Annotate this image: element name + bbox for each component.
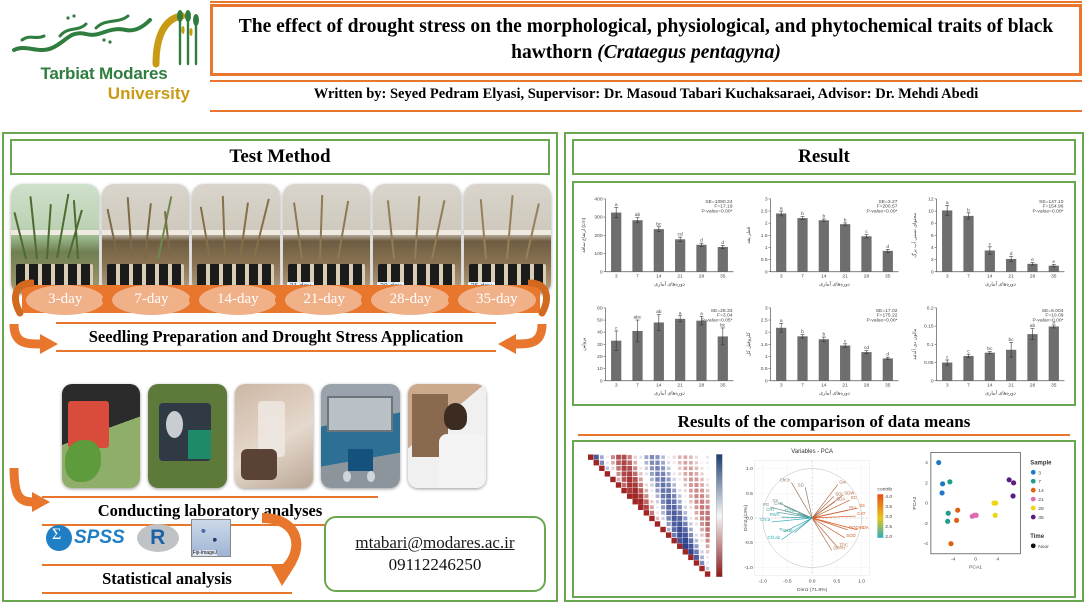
- svg-text:Gm: Gm: [839, 479, 846, 484]
- svg-text:2: 2: [925, 480, 928, 486]
- svg-text:3: 3: [945, 382, 948, 388]
- svg-text:0: 0: [765, 378, 768, 384]
- chart-5-total-chlorophyll: 00.511.522.53a3b7b14c21cd28d35دوره‌های آ…: [741, 294, 906, 403]
- svg-text:7: 7: [801, 274, 804, 280]
- timeline-item-35day[interactable]: 35-day: [454, 279, 540, 319]
- svg-text:28: 28: [864, 274, 870, 280]
- svg-text:35: 35: [1038, 515, 1044, 521]
- svg-text:P-value=0.00*: P-value=0.00*: [702, 209, 733, 215]
- svg-text:8: 8: [930, 221, 933, 227]
- spss-logo-icon: SPSS: [46, 525, 125, 551]
- correlation-heatmap: [574, 442, 739, 596]
- svg-text:0: 0: [765, 269, 768, 275]
- svg-text:d: d: [721, 240, 724, 246]
- svg-text:28: 28: [1029, 274, 1035, 280]
- svg-text:0.5: 0.5: [761, 366, 768, 372]
- svg-text:7: 7: [636, 274, 639, 280]
- svg-text:1.0: 1.0: [746, 466, 753, 472]
- spss-label: SPSS: [74, 527, 125, 549]
- svg-text:ab: ab: [635, 212, 641, 218]
- svg-text:-2: -2: [923, 521, 928, 527]
- svg-text:abc: abc: [634, 314, 642, 320]
- svg-text:دوره‌های آبیاری: دوره‌های آبیاری: [819, 389, 850, 396]
- svg-text:4.0: 4.0: [885, 494, 892, 500]
- svg-text:DPPH: DPPH: [833, 546, 845, 551]
- svg-text:ab: ab: [1029, 323, 1035, 329]
- chart-6-mda: 00.050.10.150.2c3c7bc14bc21ab28a35دوره‌ه…: [907, 294, 1072, 403]
- svg-text:a: a: [679, 311, 682, 316]
- svg-text:دوره‌های آبیاری: دوره‌های آبیاری: [654, 281, 685, 288]
- chart-3-relative-water-content: 024681012a3b7c14d21e28e35دوره‌های آبیاری…: [907, 185, 1072, 294]
- svg-text:Chl.ab: Chl.ab: [768, 535, 781, 540]
- svg-text:0.5: 0.5: [761, 257, 768, 263]
- svg-text:0: 0: [930, 269, 933, 275]
- svg-text:0.5: 0.5: [833, 578, 840, 584]
- svg-text:ab: ab: [656, 309, 662, 315]
- svg-text:14: 14: [987, 274, 993, 280]
- svg-text:-0.5: -0.5: [783, 578, 792, 584]
- pca-individuals-cell: -404-4-2024PCA1PCA2Sample3714212835TimeN…: [909, 442, 1074, 596]
- svg-text:1.5: 1.5: [761, 341, 768, 347]
- svg-text:2: 2: [930, 257, 933, 263]
- svg-text:دوره‌های آبیاری: دوره‌های آبیاری: [985, 281, 1016, 288]
- wheat-emblem-icon: [152, 6, 204, 68]
- svg-text:TCHL: TCHL: [785, 508, 797, 513]
- svg-text:دوره‌های آبیاری: دوره‌های آبیاری: [819, 281, 850, 288]
- svg-text:CAT: CAT: [857, 511, 866, 516]
- svg-text:14: 14: [987, 382, 993, 388]
- flow-step-3-label: Statistical analysis: [42, 564, 292, 594]
- svg-text:P-value=0.00*: P-value=0.00*: [867, 317, 898, 323]
- svg-text:3: 3: [780, 382, 783, 388]
- svg-text:پرولین: پرولین: [581, 337, 587, 351]
- svg-text:35: 35: [885, 382, 891, 388]
- header-divider-top: [210, 80, 1082, 82]
- svg-text:RWC: RWC: [770, 512, 780, 517]
- svg-text:3: 3: [615, 382, 618, 388]
- svg-text:21: 21: [677, 382, 683, 388]
- svg-text:0.2: 0.2: [926, 305, 933, 311]
- r-label: R: [150, 526, 165, 550]
- svg-text:SOD: SOD: [846, 533, 855, 538]
- svg-text:0.15: 0.15: [924, 323, 934, 329]
- svg-text:b: b: [844, 217, 847, 223]
- svg-text:4: 4: [925, 460, 928, 466]
- r-logo-icon: R: [137, 524, 179, 552]
- svg-text:b: b: [801, 329, 804, 335]
- svg-text:e: e: [1052, 260, 1055, 265]
- svg-text:دوره‌های آبیاری: دوره‌های آبیاری: [985, 389, 1016, 396]
- svg-text:b: b: [823, 331, 826, 337]
- svg-text:20: 20: [597, 354, 603, 360]
- svg-text:0.05: 0.05: [924, 360, 934, 366]
- svg-text:2: 2: [765, 221, 768, 227]
- svg-text:21: 21: [1008, 382, 1014, 388]
- svg-text:a: a: [945, 201, 948, 206]
- svg-text:14: 14: [821, 382, 827, 388]
- lab-photo-row: [62, 384, 486, 488]
- svg-text:P-value=0.00*: P-value=0.00*: [1032, 209, 1063, 215]
- svg-text:35: 35: [720, 274, 726, 280]
- svg-text:2: 2: [765, 329, 768, 335]
- svg-text:b: b: [823, 214, 826, 220]
- svg-text:کلروفیل کل: کلروفیل کل: [746, 331, 752, 356]
- svg-text:3.0: 3.0: [885, 514, 892, 520]
- svg-text:3: 3: [780, 274, 783, 280]
- timeline-item-7day[interactable]: 7-day: [108, 279, 194, 319]
- svg-text:d: d: [887, 351, 890, 357]
- svg-text:30: 30: [597, 341, 603, 347]
- svg-text:3.5: 3.5: [885, 504, 892, 510]
- variables-pca-cell: Variables - PCA-1.0-1.0-0.5-0.50.00.00.5…: [739, 442, 909, 596]
- treatment-timeline: 3-day 7-day 14-day 21-day 28-day 35-day: [8, 277, 554, 321]
- svg-text:1: 1: [765, 354, 768, 360]
- svg-text:21: 21: [1038, 497, 1044, 503]
- chart-1-stem-height: 0100200300400a3ab7bc14cd21d28d35دوره‌های…: [576, 185, 741, 294]
- svg-text:-1.0: -1.0: [744, 565, 753, 571]
- svg-text:bc: bc: [987, 346, 993, 352]
- svg-text:1: 1: [765, 245, 768, 251]
- svg-text:0: 0: [930, 378, 933, 384]
- svg-text:2.0: 2.0: [885, 534, 892, 540]
- timeline-items: 3-day 7-day 14-day 21-day 28-day 35-day: [22, 279, 540, 319]
- svg-text:0.0: 0.0: [809, 578, 816, 584]
- correlation-heatmap-cell: [574, 442, 739, 596]
- svg-text:10: 10: [597, 366, 603, 372]
- svg-text:0: 0: [600, 269, 603, 275]
- svg-text:-1.0: -1.0: [758, 578, 767, 584]
- timeline-item-28day[interactable]: 28-day: [367, 279, 453, 319]
- svg-text:CAR: CAR: [774, 501, 783, 506]
- persian-calligraphy-icon: [8, 10, 158, 64]
- svg-text:محتوای نسبی آب برگ: محتوای نسبی آب برگ: [911, 213, 918, 258]
- statistical-software-logos: SPSS R Fiji-ImageJ: [46, 516, 276, 560]
- svg-text:0.5: 0.5: [746, 491, 753, 497]
- bar-charts-grid: 0100200300400a3ab7bc14cd21d28d35دوره‌های…: [576, 185, 1072, 402]
- svg-text:Variables - PCA: Variables - PCA: [791, 449, 833, 455]
- svg-text:ارتفاع ساقه (cm): ارتفاع ساقه (cm): [581, 217, 587, 252]
- svg-text:35: 35: [720, 382, 726, 388]
- svg-text:a: a: [780, 207, 783, 212]
- svg-text:SS: SS: [859, 503, 865, 508]
- svg-text:2.5: 2.5: [885, 524, 892, 530]
- university-logo: Tarbiat Modares University: [4, 4, 202, 122]
- svg-text:40: 40: [597, 329, 603, 335]
- chart-2-collar-diameter: 00.511.522.53a3b7b14b21c28d35دوره‌های آب…: [741, 185, 906, 294]
- photo-researcher-in-lab: [408, 384, 486, 488]
- section-title-result: Result: [572, 139, 1076, 175]
- svg-text:7: 7: [967, 382, 970, 388]
- svg-text:4: 4: [930, 245, 933, 251]
- svg-text:دوره‌های آبیاری: دوره‌های آبیاری: [654, 389, 685, 396]
- bar-charts-container: 0100200300400a3ab7bc14cd21d28d35دوره‌های…: [572, 181, 1076, 406]
- variables-pca-plot: Variables - PCA-1.0-1.0-0.5-0.50.00.00.5…: [739, 442, 909, 596]
- svg-text:bc: bc: [1008, 337, 1014, 343]
- svg-text:0: 0: [925, 501, 928, 507]
- poster-title-box: The effect of drought stress on the morp…: [210, 4, 1082, 76]
- svg-text:-0.5: -0.5: [744, 540, 753, 546]
- svg-text:35: 35: [885, 274, 891, 280]
- svg-text:28: 28: [699, 382, 705, 388]
- svg-text:2.5: 2.5: [761, 209, 768, 215]
- timeline-item-21day[interactable]: 21-day: [281, 279, 367, 319]
- section-title-test-method: Test Method: [10, 139, 550, 175]
- flow-arrow-2-icon: [496, 320, 548, 354]
- svg-text:14: 14: [821, 274, 827, 280]
- svg-text:21: 21: [843, 382, 849, 388]
- means-results-container: Variables - PCA-1.0-1.0-0.5-0.50.00.00.5…: [572, 440, 1076, 598]
- svg-text:21: 21: [677, 274, 683, 280]
- svg-text:PCA1: PCA1: [969, 565, 982, 571]
- poster-header: Tarbiat Modares University The effect of…: [0, 0, 1086, 128]
- svg-text:300: 300: [594, 215, 602, 221]
- svg-text:4: 4: [997, 557, 1000, 563]
- svg-text:7: 7: [636, 382, 639, 388]
- svg-text:a: a: [615, 203, 618, 208]
- svg-text:d: d: [700, 238, 703, 244]
- contact-box: mtabari@modares.ac.ir 09112246250: [324, 516, 546, 592]
- fiji-label: Fiji-ImageJ: [193, 550, 217, 556]
- svg-text:7: 7: [967, 274, 970, 280]
- svg-text:d: d: [887, 244, 890, 250]
- svg-text:35: 35: [1051, 274, 1057, 280]
- svg-text:7: 7: [801, 382, 804, 388]
- svg-text:50: 50: [597, 317, 603, 323]
- svg-text:-4: -4: [951, 557, 956, 563]
- svg-text:bc: bc: [656, 221, 662, 227]
- svg-text:PCA2: PCA2: [912, 496, 918, 509]
- svg-text:12: 12: [928, 196, 934, 202]
- timeline-label-21day: 21-day: [303, 291, 345, 308]
- svg-text:0: 0: [974, 557, 977, 563]
- svg-text:P-value=0.00*: P-value=0.00*: [1032, 317, 1063, 323]
- svg-text:Dim2 (13%): Dim2 (13%): [743, 505, 749, 531]
- svg-text:10: 10: [928, 209, 934, 215]
- svg-text:contrib: contrib: [877, 486, 892, 492]
- fiji-imagej-logo-icon: Fiji-ImageJ: [191, 519, 231, 557]
- svg-text:P-value=0.05*: P-value=0.05*: [702, 317, 733, 323]
- timeline-item-3day[interactable]: 3-day: [22, 279, 108, 319]
- page-title: The effect of drought stress on the morp…: [213, 7, 1079, 66]
- title-species-name: (Crataegus pentagyna): [597, 42, 781, 63]
- svg-text:a: a: [780, 318, 783, 323]
- svg-text:EC: EC: [851, 495, 857, 500]
- svg-text:cd: cd: [678, 232, 683, 238]
- svg-text:P-value=0.00*: P-value=0.00*: [867, 209, 898, 215]
- timeline-label-7day: 7-day: [134, 291, 168, 308]
- timeline-item-14day[interactable]: 14-day: [195, 279, 281, 319]
- svg-text:1.5: 1.5: [761, 233, 768, 239]
- svg-text:2.5: 2.5: [761, 317, 768, 323]
- svg-text:e: e: [1031, 258, 1034, 263]
- timeline-label-3day: 3-day: [48, 291, 82, 308]
- timeline-label-35day: 35-day: [476, 291, 518, 308]
- svg-text:Time: Time: [1030, 534, 1044, 540]
- header-divider-bottom: [210, 110, 1082, 112]
- svg-text:Sample: Sample: [1030, 460, 1052, 466]
- svg-text:b: b: [967, 207, 970, 213]
- svg-text:Chl.a: Chl.a: [760, 517, 771, 522]
- timeline-label-28day: 28-day: [390, 291, 432, 308]
- svg-text:100: 100: [594, 251, 602, 257]
- svg-text:6: 6: [930, 233, 933, 239]
- timeline-label-14day: 14-day: [217, 291, 259, 308]
- svg-text:28: 28: [864, 382, 870, 388]
- svg-text:1.0: 1.0: [858, 578, 865, 584]
- svg-text:MDA: MDA: [859, 525, 869, 530]
- svg-text:b: b: [801, 211, 804, 217]
- svg-text:WUE: WUE: [783, 528, 793, 533]
- svg-text:200: 200: [594, 233, 602, 239]
- svg-text:قطر یقه: قطر یقه: [746, 226, 752, 244]
- svg-text:14: 14: [656, 274, 662, 280]
- chart-4-proline: 0102030405060c3abc7ab14a21a28bc35دوره‌ها…: [576, 294, 741, 403]
- svg-text:Noor: Noor: [1038, 544, 1049, 550]
- svg-text:SDL: SDL: [835, 491, 844, 496]
- svg-text:3: 3: [765, 305, 768, 311]
- svg-text:Dim1 (71.8%): Dim1 (71.8%): [797, 587, 828, 593]
- svg-text:3: 3: [615, 274, 618, 280]
- svg-text:28: 28: [699, 274, 705, 280]
- svg-text:21: 21: [1008, 274, 1014, 280]
- svg-text:a: a: [700, 311, 703, 316]
- logo-name-line1: Tarbiat Modares: [6, 64, 202, 84]
- svg-text:-4: -4: [923, 541, 928, 547]
- photo-sample-preparation: [235, 384, 313, 488]
- svg-text:60: 60: [597, 305, 603, 311]
- photo-field-instrument: [148, 384, 226, 488]
- contact-email[interactable]: mtabari@modares.ac.ir: [355, 533, 514, 553]
- svg-text:0: 0: [600, 378, 603, 384]
- svg-text:14: 14: [656, 382, 662, 388]
- flow-arrow-1-icon: [8, 320, 60, 354]
- svg-text:cd: cd: [864, 345, 869, 351]
- test-method-panel: Test Method: [2, 132, 558, 602]
- means-comparison-title: Results of the comparison of data means: [572, 412, 1076, 432]
- svg-text:400: 400: [594, 196, 602, 202]
- svg-text:SD: SD: [798, 482, 804, 487]
- contact-phone: 09112246250: [389, 555, 482, 575]
- logo-name-line2: University: [6, 84, 202, 104]
- svg-text:3: 3: [765, 196, 768, 202]
- photo-porometer-device: [62, 384, 140, 488]
- svg-text:14: 14: [1038, 488, 1044, 494]
- svg-text:Chl.b: Chl.b: [780, 477, 791, 482]
- svg-text:مالون دی آلدئید: مالون دی آلدئید: [911, 328, 918, 360]
- authors-line: Written by: Seyed Pedram Elyasi, Supervi…: [210, 86, 1082, 103]
- svg-text:3: 3: [945, 274, 948, 280]
- svg-text:7: 7: [1038, 479, 1041, 485]
- svg-text:21: 21: [843, 274, 849, 280]
- svg-text:35: 35: [1051, 382, 1057, 388]
- photo-ultrasonic-bath: [321, 384, 399, 488]
- svg-text:d: d: [1009, 251, 1012, 257]
- svg-text:3: 3: [1038, 470, 1041, 476]
- flow-step-1-label: Seedling Preparation and Drought Stress …: [56, 322, 496, 352]
- svg-text:28: 28: [1029, 382, 1035, 388]
- means-divider: [578, 434, 1070, 436]
- svg-text:0.1: 0.1: [926, 341, 933, 347]
- pca-individuals-plot: -404-4-2024PCA1PCA2Sample3714212835TimeN…: [909, 442, 1074, 596]
- svg-text:SDA: SDA: [836, 497, 845, 502]
- result-panel: Result 0100200300400a3ab7bc14cd21d28d35د…: [564, 132, 1084, 602]
- svg-text:28: 28: [1038, 506, 1044, 512]
